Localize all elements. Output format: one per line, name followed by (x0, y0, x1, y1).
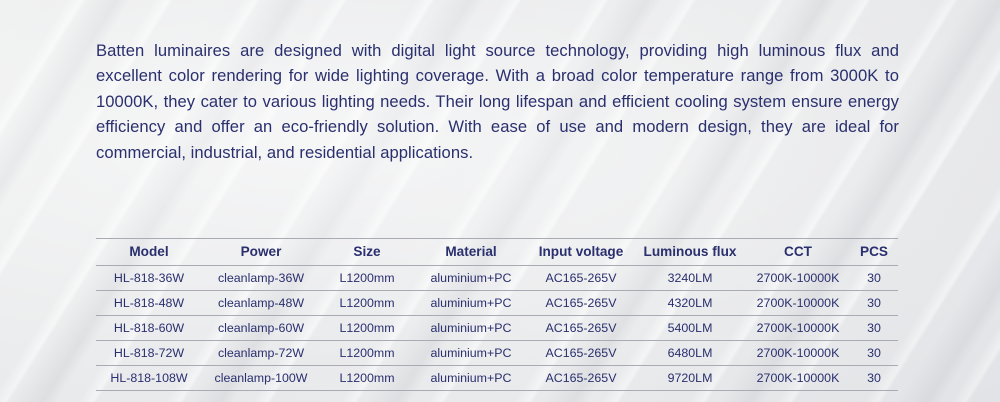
cell-luminous-flux: 4320LM (634, 291, 746, 316)
cell-model: HL-818-72W (96, 341, 202, 366)
cell-input-voltage: AC165-265V (528, 291, 634, 316)
cell-cct: 2700K-10000K (746, 366, 850, 391)
cell-input-voltage: AC165-265V (528, 316, 634, 341)
column-header-power: Power (202, 239, 320, 266)
product-spec-page: Batten luminaires are designed with digi… (0, 0, 1000, 402)
column-header-size: Size (320, 239, 414, 266)
column-header-cct: CCT (746, 239, 850, 266)
column-header-input-voltage: Input voltage (528, 239, 634, 266)
table-row: HL-818-72W cleanlamp-72W L1200mm alumini… (96, 341, 898, 366)
cell-cct: 2700K-10000K (746, 266, 850, 291)
table-row: HL-818-108W cleanlamp-100W L1200mm alumi… (96, 366, 898, 391)
product-description-paragraph: Batten luminaires are designed with digi… (96, 38, 899, 166)
cell-size: L1200mm (320, 341, 414, 366)
cell-model: HL-818-60W (96, 316, 202, 341)
cell-power: cleanlamp-100W (202, 366, 320, 391)
cell-pcs: 30 (850, 266, 898, 291)
cell-cct: 2700K-10000K (746, 291, 850, 316)
cell-input-voltage: AC165-265V (528, 266, 634, 291)
column-header-pcs: PCS (850, 239, 898, 266)
cell-input-voltage: AC165-265V (528, 341, 634, 366)
cell-material: aluminium+PC (414, 266, 528, 291)
cell-size: L1200mm (320, 266, 414, 291)
cell-power: cleanlamp-60W (202, 316, 320, 341)
cell-size: L1200mm (320, 366, 414, 391)
table-header-row: Model Power Size Material Input voltage … (96, 239, 898, 266)
column-header-model: Model (96, 239, 202, 266)
cell-material: aluminium+PC (414, 316, 528, 341)
cell-pcs: 30 (850, 316, 898, 341)
cell-model: HL-818-48W (96, 291, 202, 316)
cell-luminous-flux: 9720LM (634, 366, 746, 391)
cell-material: aluminium+PC (414, 291, 528, 316)
cell-material: aluminium+PC (414, 341, 528, 366)
cell-luminous-flux: 6480LM (634, 341, 746, 366)
cell-luminous-flux: 5400LM (634, 316, 746, 341)
cell-luminous-flux: 3240LM (634, 266, 746, 291)
specifications-table: Model Power Size Material Input voltage … (96, 238, 898, 391)
cell-size: L1200mm (320, 291, 414, 316)
cell-cct: 2700K-10000K (746, 316, 850, 341)
cell-model: HL-818-36W (96, 266, 202, 291)
cell-power: cleanlamp-36W (202, 266, 320, 291)
cell-power: cleanlamp-72W (202, 341, 320, 366)
cell-pcs: 30 (850, 366, 898, 391)
cell-power: cleanlamp-48W (202, 291, 320, 316)
cell-pcs: 30 (850, 341, 898, 366)
cell-material: aluminium+PC (414, 366, 528, 391)
column-header-luminous-flux: Luminous flux (634, 239, 746, 266)
cell-cct: 2700K-10000K (746, 341, 850, 366)
table-row: HL-818-36W cleanlamp-36W L1200mm alumini… (96, 266, 898, 291)
spec-table-container: Model Power Size Material Input voltage … (96, 238, 898, 391)
table-row: HL-818-48W cleanlamp-48W L1200mm alumini… (96, 291, 898, 316)
cell-model: HL-818-108W (96, 366, 202, 391)
cell-input-voltage: AC165-265V (528, 366, 634, 391)
cell-size: L1200mm (320, 316, 414, 341)
cell-pcs: 30 (850, 291, 898, 316)
table-row: HL-818-60W cleanlamp-60W L1200mm alumini… (96, 316, 898, 341)
column-header-material: Material (414, 239, 528, 266)
